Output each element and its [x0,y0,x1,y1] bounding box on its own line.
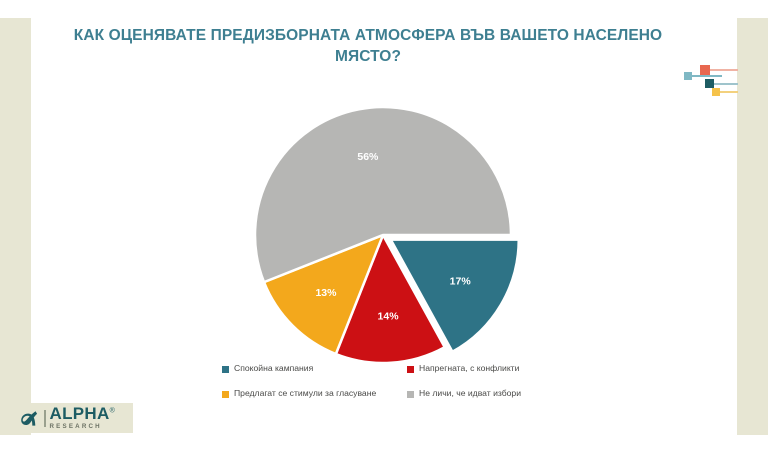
legend-swatch-icon [407,366,414,373]
legend-item-2[interactable]: Предлагат се стимули за гласуване [222,389,407,398]
pie-slice-label-3: 56% [357,151,379,163]
legend-label: Не личи, че идват избори [419,389,521,398]
legend-label: Спокойна кампания [234,364,313,373]
legend-swatch-icon [407,391,414,398]
decoration-square-2 [705,79,714,88]
legend-swatch-icon [222,366,229,373]
decoration-line-3 [720,91,738,93]
legend-item-3[interactable]: Не личи, че идват избори [407,389,552,398]
pie-chart: 17%14%13%56% [240,100,540,370]
left-accent-band [0,18,31,435]
decoration-line-0 [692,75,722,77]
legend-label: Напрегната, с конфликти [419,364,519,373]
legend-label: Предлагат се стимули за гласуване [234,389,376,398]
decoration-square-3 [712,88,720,96]
pie-slice-label-2: 13% [315,287,337,299]
alpha-research-logo: ALPHA® RESEARCH [15,403,133,433]
logo-registered-mark: ® [110,408,115,415]
legend-item-1[interactable]: Напрегната, с конфликти [407,364,552,373]
pie-chart-svg: 17%14%13%56% [240,100,540,370]
logo-primary-text: ALPHA [50,404,110,423]
pie-slice-label-0: 17% [450,276,472,288]
chart-legend: Спокойна кампания Напрегната, с конфликт… [222,364,542,399]
logo-wordmark: ALPHA® RESEARCH [50,405,115,430]
slide-canvas: КАК ОЦЕНЯВАТЕ ПРЕДИЗБОРНАТА АТМОСФЕРА ВЪ… [0,0,768,457]
alpha-symbol-icon [19,407,41,429]
logo-divider [44,410,46,427]
legend-item-0[interactable]: Спокойна кампания [222,364,407,373]
right-accent-band [737,18,768,435]
logo-secondary-text: RESEARCH [50,424,115,430]
page-title: КАК ОЦЕНЯВАТЕ ПРЕДИЗБОРНАТА АТМОСФЕРА ВЪ… [58,25,678,68]
decoration-line-1 [710,69,738,71]
legend-swatch-icon [222,391,229,398]
decoration-square-0 [684,72,692,80]
decoration-square-1 [700,65,710,75]
pie-slice-label-1: 14% [378,310,400,322]
corner-bars-decoration [684,64,738,97]
decoration-line-2 [714,83,738,85]
